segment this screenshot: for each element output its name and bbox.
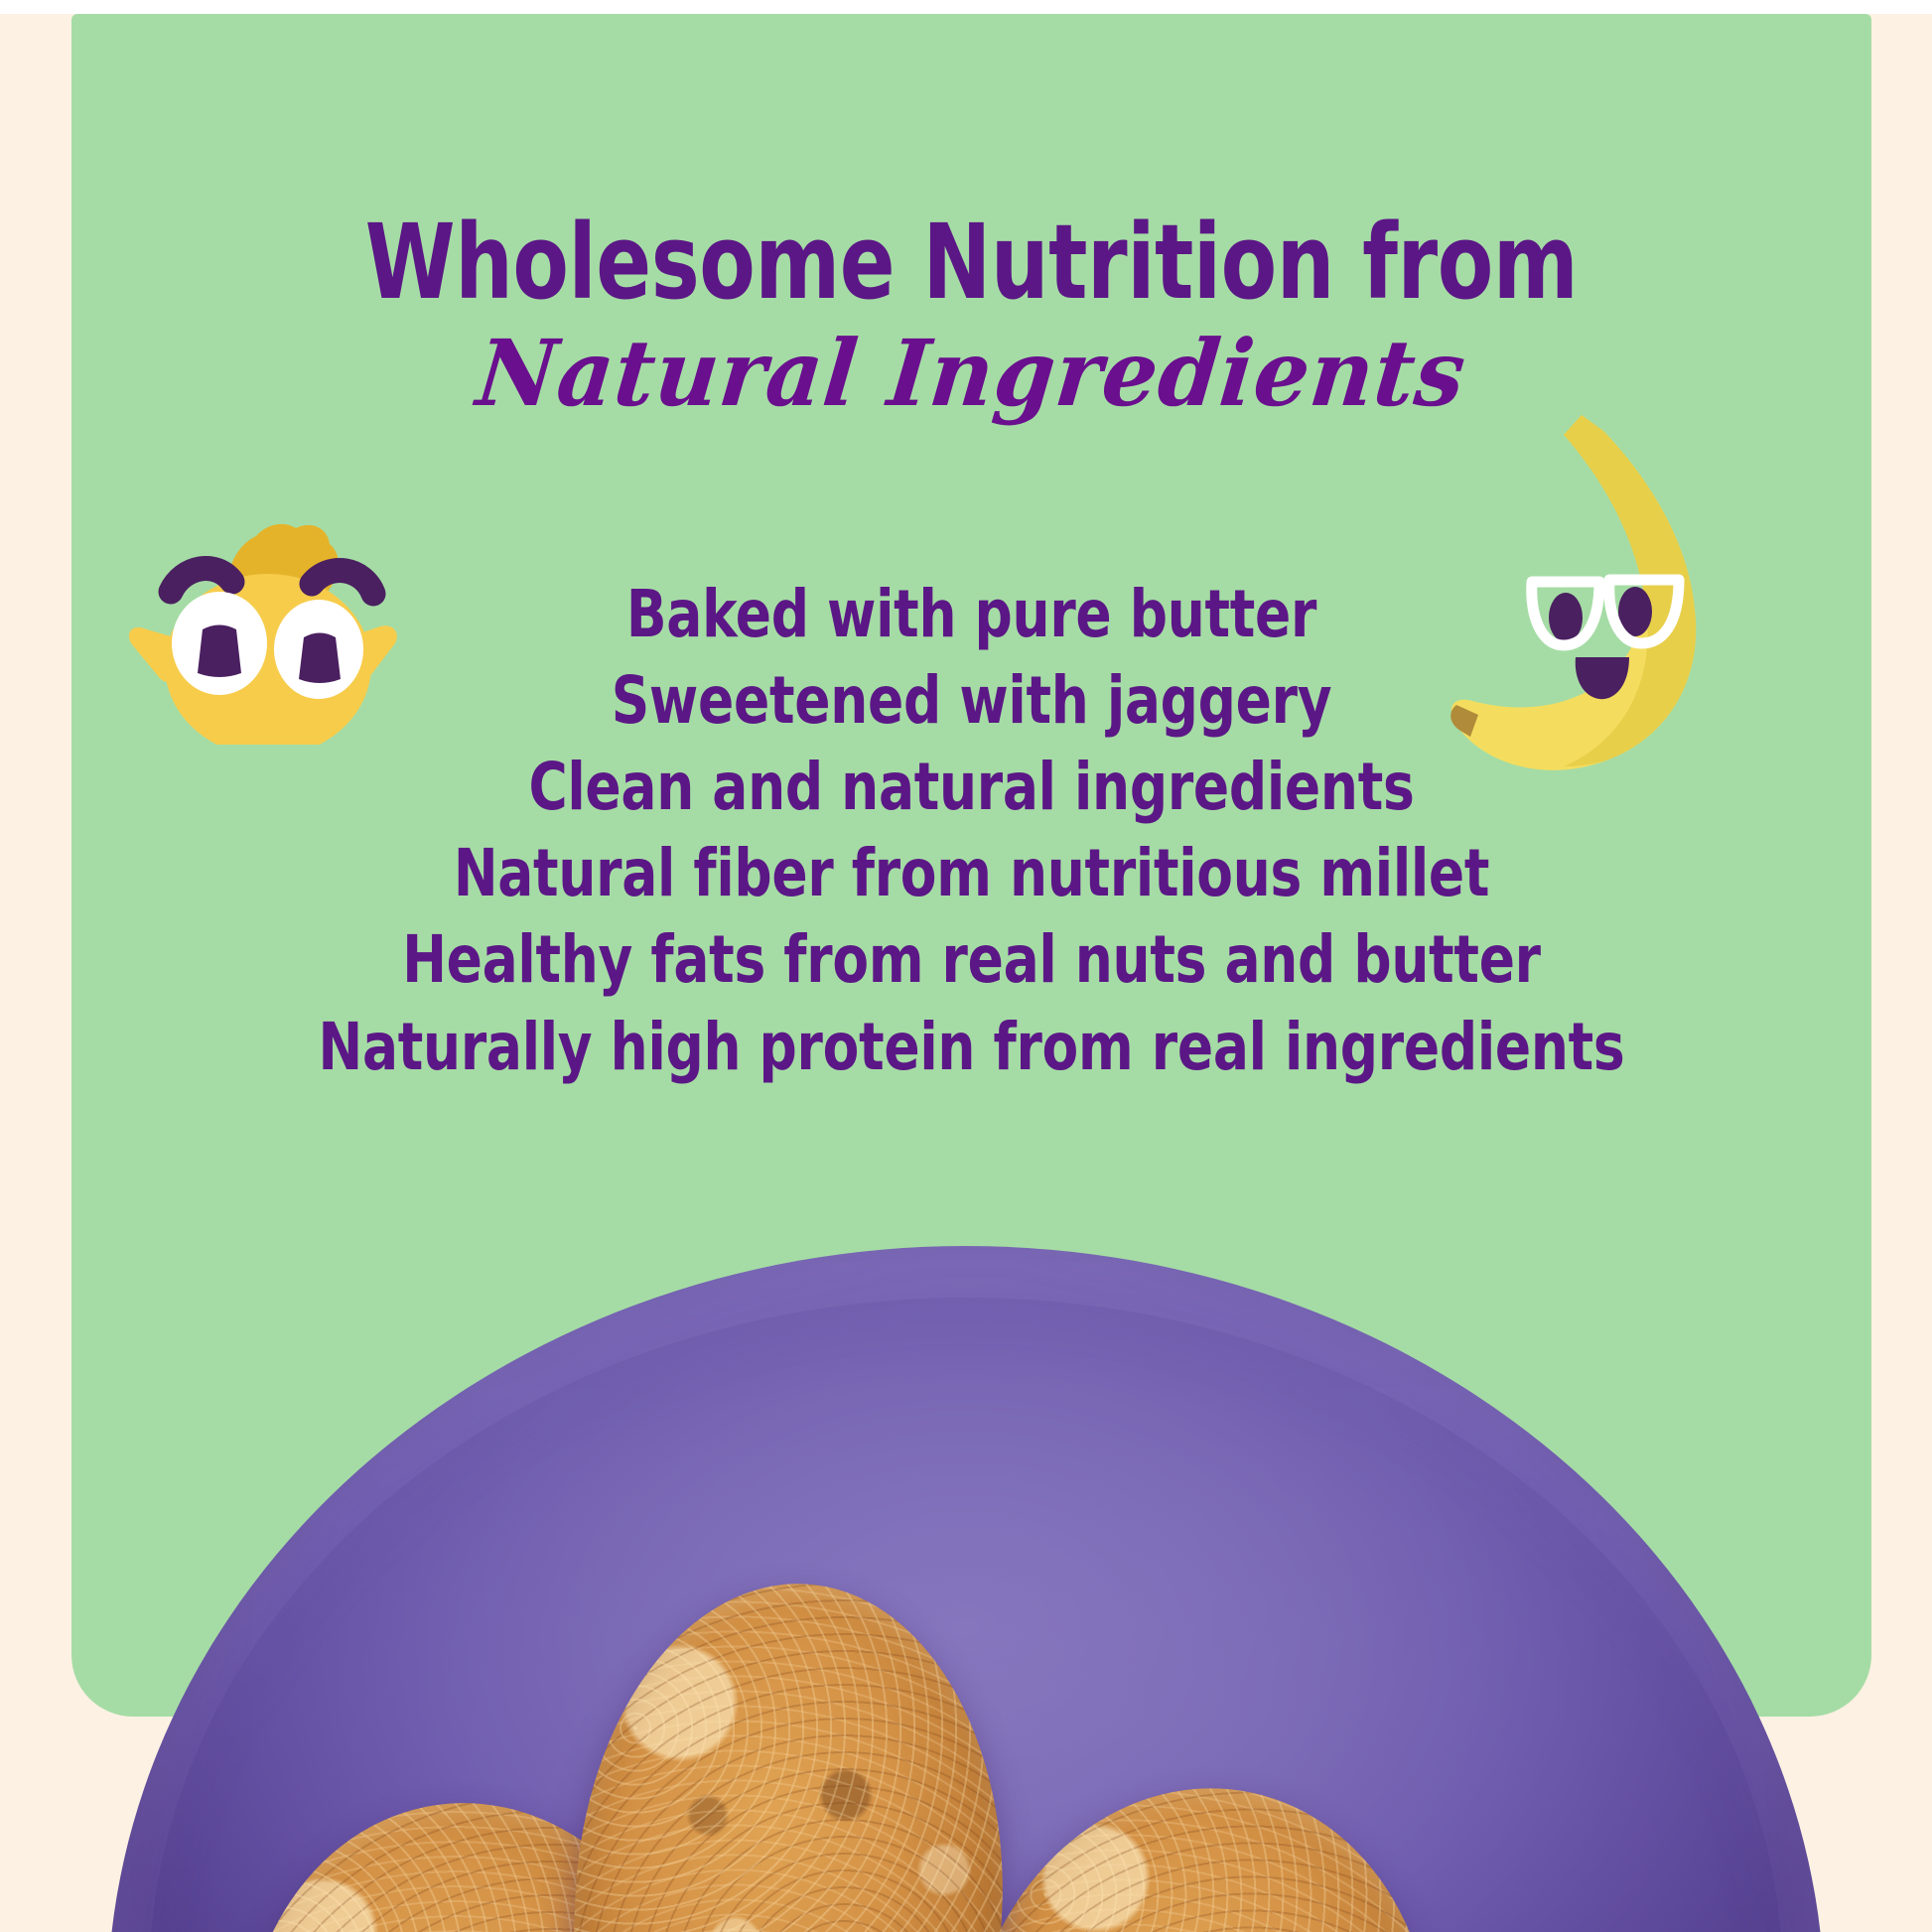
benefit-item: Natural fiber from nutritious millet (162, 830, 1782, 916)
benefit-item: Naturally high protein from real ingredi… (162, 1004, 1782, 1090)
product-photo (107, 1246, 1825, 1932)
banana-left-eye (1549, 593, 1583, 642)
mascot-right-eyebrow (312, 571, 373, 594)
poster-canvas: Wholesome Nutrition from Natural Ingredi… (0, 0, 1932, 1932)
benefit-item: Healthy fats from real nuts and butter (162, 916, 1782, 1003)
mascot-right-pupil (299, 633, 341, 684)
mascot-left-eyebrow (171, 569, 232, 592)
banana-character-icon (1415, 397, 1782, 794)
glasses-bridge (1599, 592, 1609, 594)
mascot-left-pupil (198, 625, 241, 678)
yellow-mascot-icon (117, 417, 415, 745)
top-white-strip (0, 0, 1932, 14)
